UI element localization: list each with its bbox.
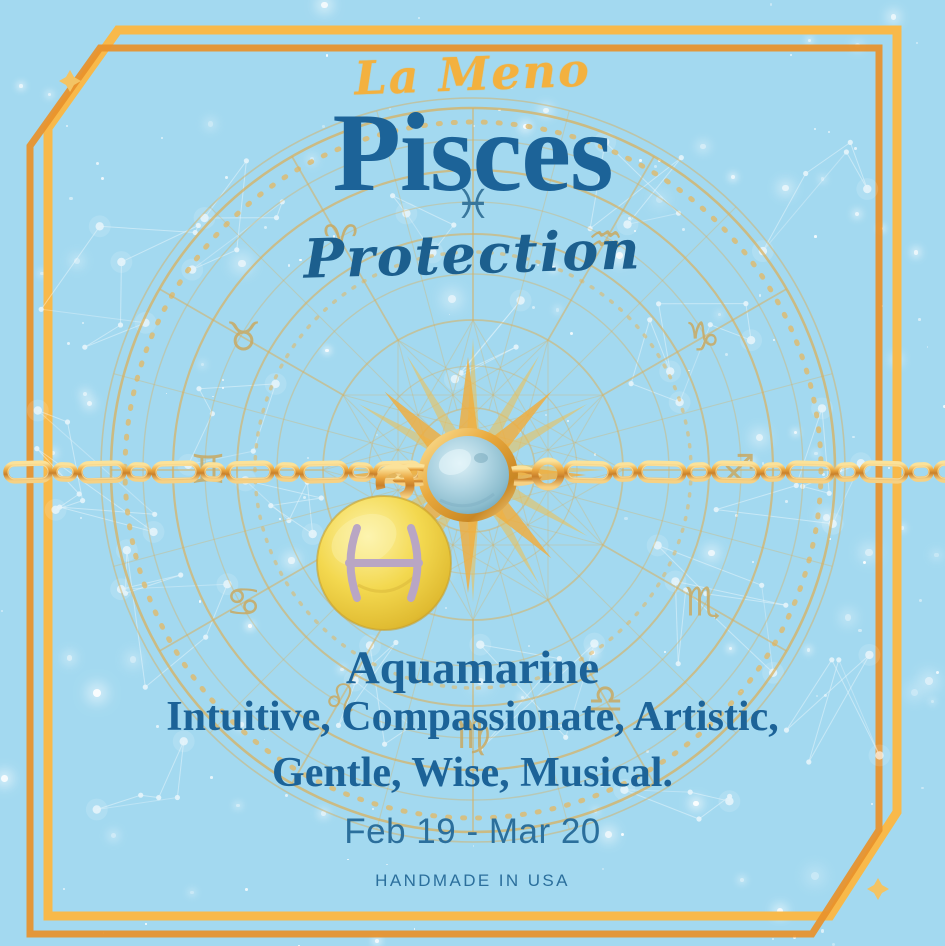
- aquamarine-cabochon: [418, 428, 518, 522]
- chain-link: [788, 463, 832, 481]
- chain-link: [228, 463, 272, 481]
- star: [700, 347, 703, 350]
- wire-wrap-left: [395, 467, 424, 483]
- pisces-disc-charm: [317, 468, 451, 630]
- zodiac-glyph-gemini: ♊: [190, 447, 226, 493]
- star: [83, 392, 88, 397]
- star: [212, 396, 214, 398]
- star: [82, 322, 84, 324]
- date-range: Feb 19 - Mar 20: [0, 812, 945, 852]
- star: [845, 614, 852, 621]
- star: [570, 332, 573, 335]
- star: [852, 436, 855, 439]
- star: [347, 859, 349, 861]
- star: [773, 339, 775, 341]
- star: [881, 305, 883, 307]
- chain-link: [302, 463, 346, 481]
- star: [445, 607, 448, 610]
- star: [452, 504, 455, 507]
- star: [437, 567, 444, 574]
- chain-link: [615, 465, 635, 480]
- chain-link: [689, 465, 709, 480]
- gemstone-name: Aquamarine: [0, 641, 945, 695]
- star: [201, 363, 205, 367]
- chain-link: [640, 463, 684, 481]
- star: [567, 420, 569, 422]
- chain-link: [763, 465, 783, 480]
- star: [888, 467, 891, 470]
- star: [794, 431, 798, 435]
- star: [839, 468, 843, 472]
- star: [190, 891, 194, 895]
- chain-link: [277, 465, 297, 480]
- star: [777, 908, 783, 914]
- star: [279, 518, 281, 520]
- chain-link: [80, 463, 124, 481]
- gold-chain: [6, 463, 945, 481]
- star: [749, 459, 753, 463]
- star: [307, 457, 309, 459]
- star: [688, 370, 690, 372]
- tagline: Protection: [0, 209, 945, 299]
- chain-link: [837, 465, 857, 480]
- star: [865, 549, 873, 557]
- star: [381, 537, 389, 545]
- star: [532, 306, 535, 309]
- star: [858, 629, 861, 632]
- chain-link: [55, 465, 75, 480]
- handmade-label: HANDMADE IN USA: [0, 871, 945, 891]
- page-title: Pisces: [0, 97, 945, 209]
- star: [448, 295, 456, 303]
- zodiac-glyph-scorpio: ♏: [684, 580, 720, 626]
- star: [56, 471, 60, 475]
- star: [785, 500, 788, 503]
- star: [762, 462, 765, 465]
- chain-link: [6, 463, 50, 481]
- star: [545, 414, 547, 416]
- star: [481, 507, 486, 512]
- star: [863, 561, 866, 564]
- constellation-8: [629, 301, 763, 413]
- star: [821, 929, 824, 932]
- zodiac-glyph-taurus: ♉: [225, 315, 261, 361]
- star: [222, 379, 224, 381]
- star: [822, 473, 825, 476]
- star: [556, 308, 560, 312]
- star: [871, 803, 874, 806]
- star: [303, 496, 306, 499]
- chain-link: [936, 463, 945, 481]
- star: [752, 561, 754, 563]
- chain-link: [203, 465, 223, 480]
- star: [449, 314, 451, 316]
- star: [1, 610, 3, 612]
- zodiac-glyph-cancer: ♋: [225, 580, 261, 626]
- star: [829, 538, 831, 540]
- star: [87, 401, 92, 406]
- star: [891, 14, 897, 20]
- sunburst: [350, 357, 586, 593]
- zodiac-glyph-capricorn: ♑: [684, 315, 720, 361]
- star: [718, 313, 722, 317]
- star: [288, 557, 294, 563]
- constellation-5: [234, 469, 323, 544]
- constellation-1: [27, 400, 165, 543]
- chain-link: [376, 463, 420, 481]
- constellation-14: [444, 290, 532, 390]
- zodiac-glyph-sagittarius: ♐: [720, 447, 756, 493]
- star: [51, 451, 55, 455]
- star: [372, 808, 374, 810]
- zodiac-product-card: ♓♒♑♐♏♎♍♌♋♊♉♈: [0, 0, 945, 946]
- star: [80, 517, 82, 519]
- wire-wrap: [512, 461, 561, 487]
- star: [759, 294, 761, 296]
- star: [236, 804, 240, 808]
- star: [602, 868, 604, 870]
- star: [693, 801, 699, 807]
- star: [145, 923, 147, 925]
- star: [594, 453, 597, 456]
- constellation-4: [177, 373, 286, 476]
- star: [894, 357, 899, 362]
- chain-link: [911, 465, 931, 480]
- star: [823, 514, 830, 521]
- star: [67, 342, 70, 345]
- chain-link: [351, 465, 371, 480]
- star: [793, 935, 796, 938]
- star: [725, 353, 728, 356]
- star: [756, 434, 763, 441]
- star: [321, 2, 328, 9]
- star: [708, 550, 715, 557]
- star: [518, 429, 521, 432]
- chain-link: [154, 463, 198, 481]
- star: [919, 599, 922, 602]
- chain-link: [862, 463, 906, 481]
- chain-link: [129, 465, 149, 480]
- star: [927, 346, 929, 348]
- star: [414, 928, 416, 930]
- star: [468, 451, 475, 458]
- star: [103, 932, 105, 934]
- star: [735, 514, 738, 517]
- star: [901, 526, 905, 530]
- star: [166, 393, 168, 395]
- star: [248, 624, 252, 628]
- star: [934, 553, 939, 558]
- star: [325, 349, 329, 353]
- star: [772, 938, 774, 940]
- star: [305, 26, 307, 28]
- constellation-9: [714, 397, 872, 534]
- star: [918, 318, 921, 321]
- star: [624, 517, 627, 520]
- star: [376, 434, 378, 436]
- star: [418, 17, 420, 19]
- star: [222, 387, 224, 389]
- traits-line-2: Gentle, Wise, Musical.: [0, 750, 945, 797]
- star: [375, 939, 379, 943]
- traits-line-1: Intuitive, Compassionate, Artistic,: [0, 694, 945, 741]
- star: [814, 452, 818, 456]
- star: [386, 864, 388, 866]
- star: [770, 3, 772, 5]
- star: [392, 512, 394, 514]
- star: [199, 600, 202, 603]
- chain-link: [714, 463, 758, 481]
- chain-link: [566, 463, 610, 481]
